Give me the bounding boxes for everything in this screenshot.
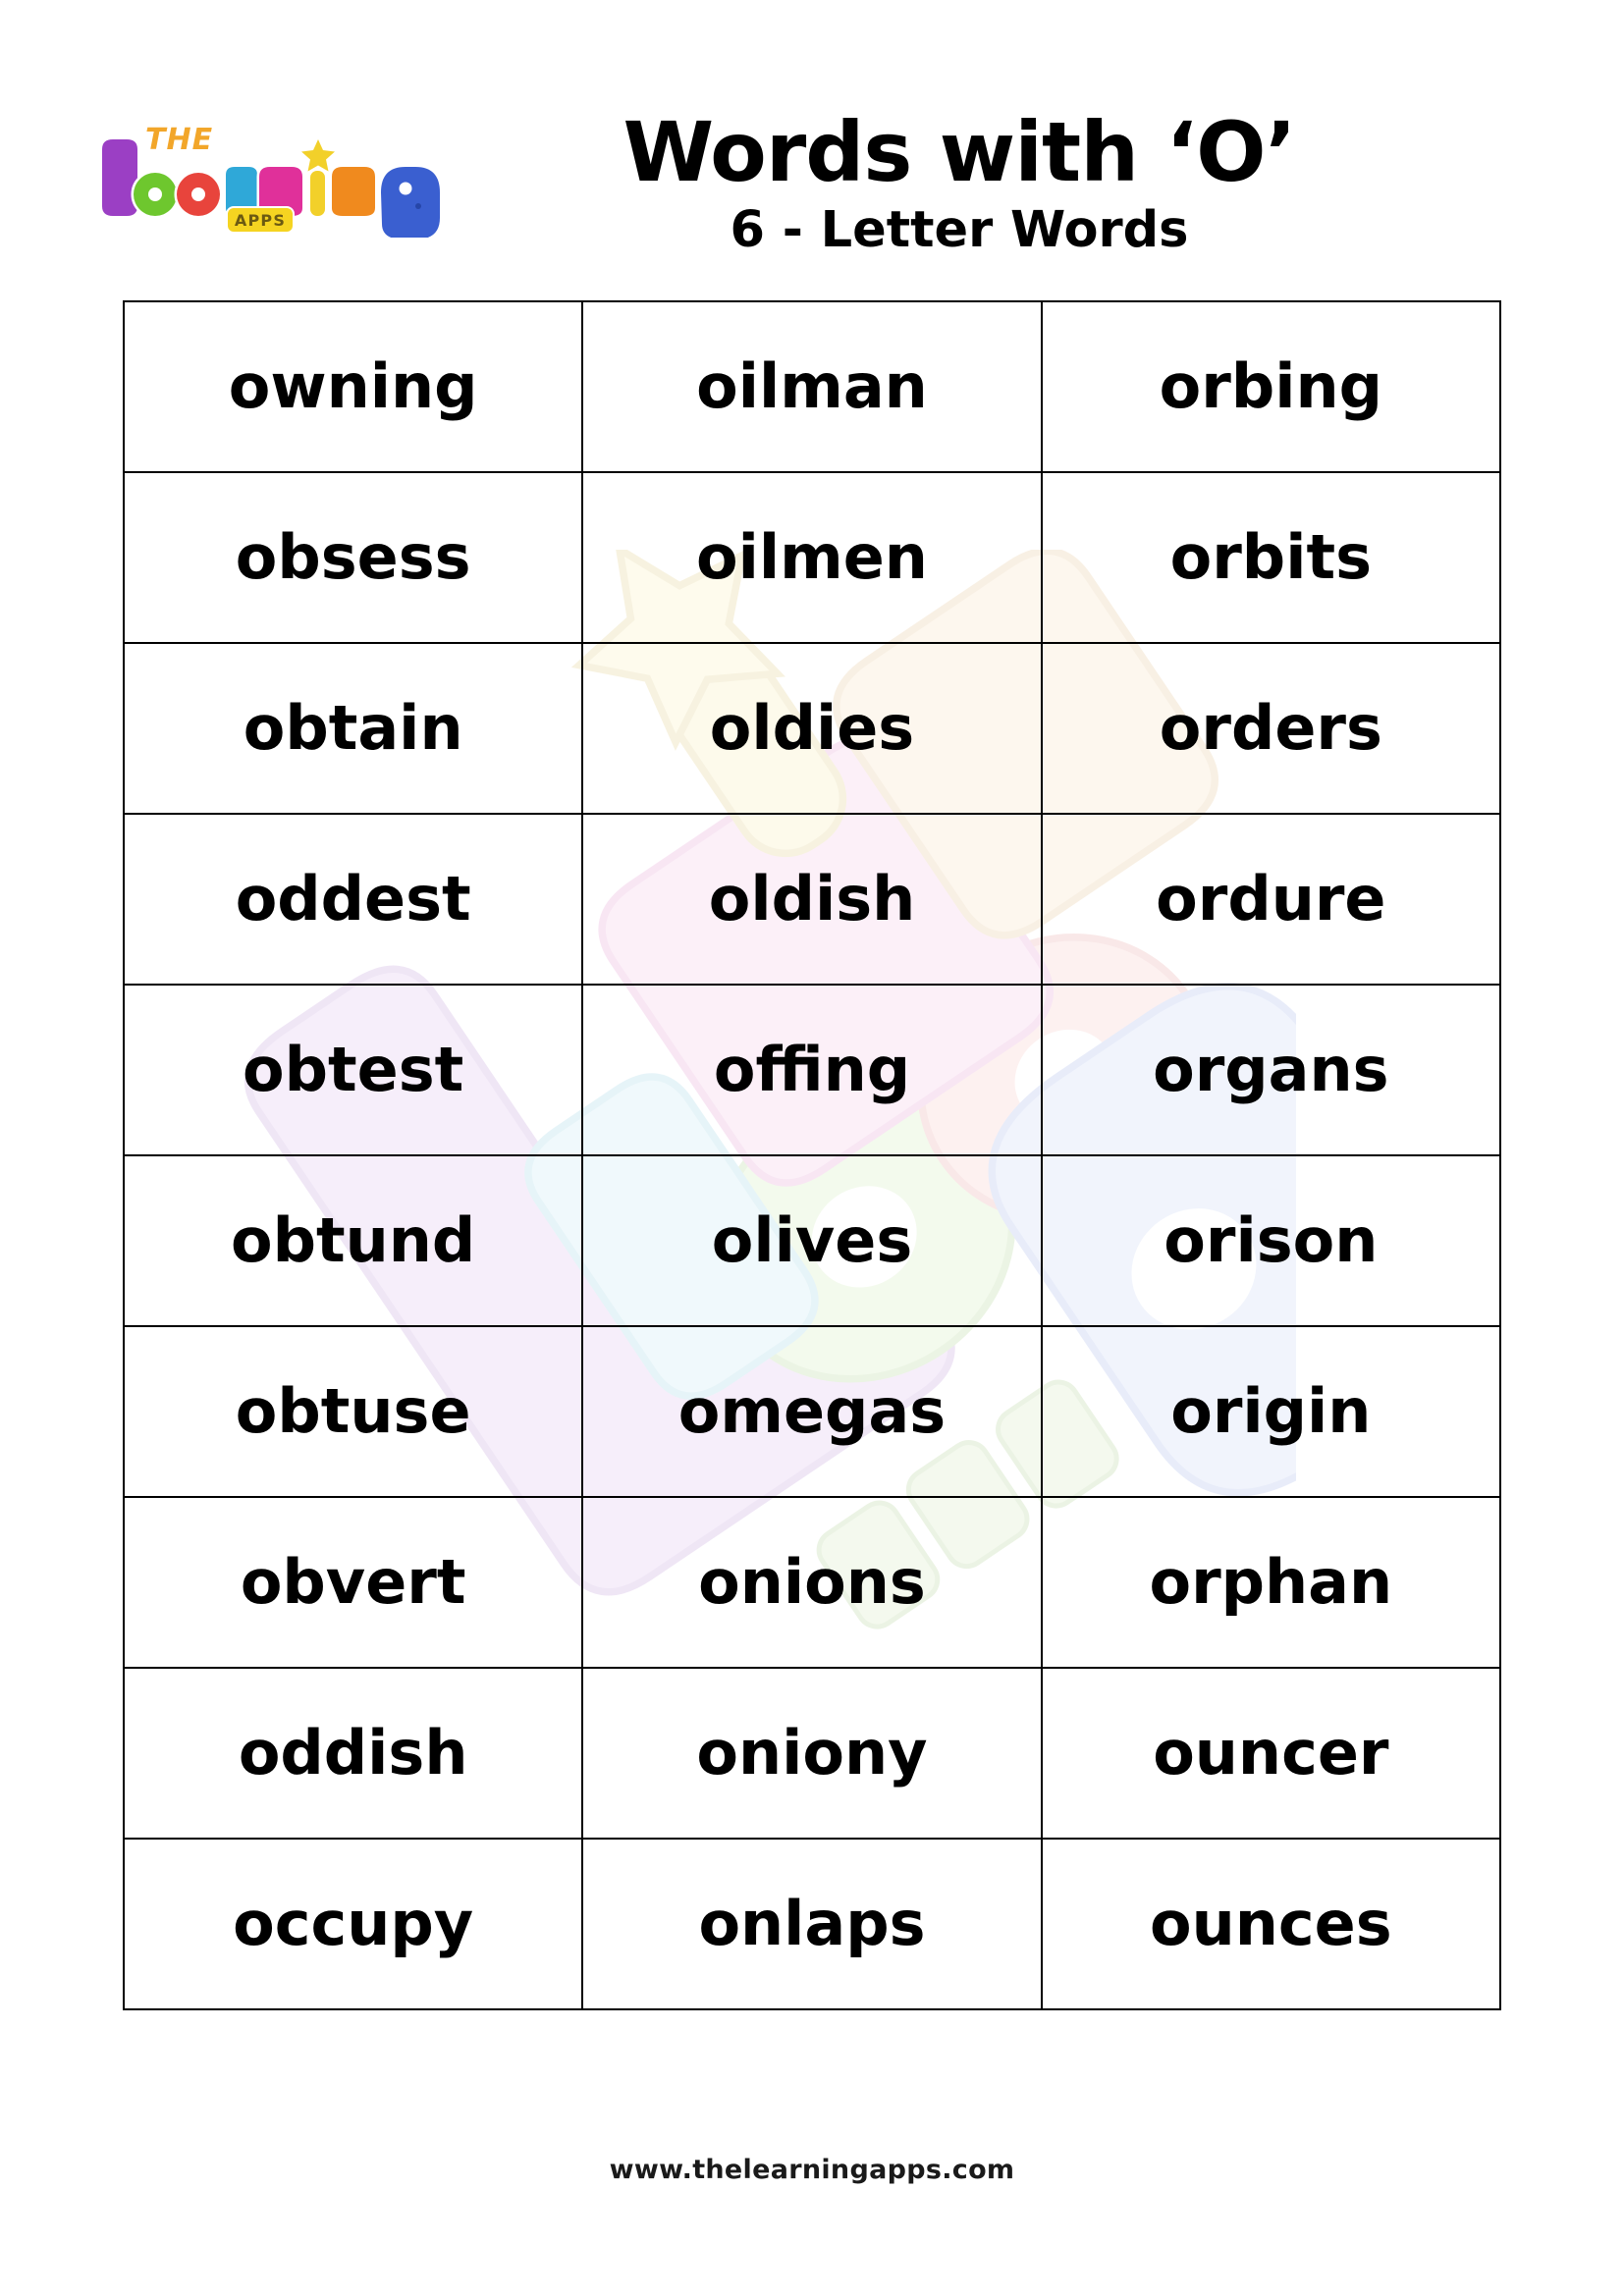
- word-cell: origin: [1042, 1326, 1500, 1497]
- word-cell: orison: [1042, 1155, 1500, 1326]
- table-row: oddish oniony ouncer: [124, 1668, 1500, 1839]
- word-cell: oddish: [124, 1668, 582, 1839]
- word-text: onions: [583, 1551, 1040, 1614]
- website-url[interactable]: www.thelearningapps.com: [610, 2155, 1015, 2185]
- word-cell: offing: [582, 985, 1041, 1155]
- table-row: obtund olives orison: [124, 1155, 1500, 1326]
- word-cell: omegas: [582, 1326, 1041, 1497]
- word-table: owning oilman orbing obsess oilmen orbit…: [123, 300, 1501, 2010]
- word-text: owning: [125, 355, 581, 418]
- word-text: omegas: [583, 1380, 1040, 1443]
- word-cell: ounces: [1042, 1839, 1500, 2009]
- word-text: oniony: [583, 1722, 1040, 1785]
- word-cell: orders: [1042, 643, 1500, 814]
- word-text: obtest: [125, 1039, 581, 1101]
- word-text: oldies: [583, 697, 1040, 760]
- svg-text:THE: THE: [145, 123, 213, 157]
- word-text: obvert: [125, 1551, 581, 1614]
- word-cell: obtain: [124, 643, 582, 814]
- word-text: ordure: [1043, 868, 1499, 931]
- word-text: obsess: [125, 526, 581, 589]
- table-row: obtain oldies orders: [124, 643, 1500, 814]
- table-row: obsess oilmen orbits: [124, 472, 1500, 643]
- word-text: onlaps: [583, 1893, 1040, 1955]
- word-cell: owning: [124, 301, 582, 472]
- word-text: orbing: [1043, 355, 1499, 418]
- word-cell: orphan: [1042, 1497, 1500, 1668]
- word-cell: obtund: [124, 1155, 582, 1326]
- worksheet-page: .bub { stroke:#ffffff; stroke-width:5; p…: [0, 0, 1624, 2296]
- page-footer: www.thelearningapps.com: [0, 2155, 1624, 2185]
- word-text: oddest: [125, 868, 581, 931]
- word-text: orison: [1043, 1209, 1499, 1272]
- word-cell: ordure: [1042, 814, 1500, 985]
- word-cell: oldies: [582, 643, 1041, 814]
- word-text: obtuse: [125, 1380, 581, 1443]
- word-cell: obtest: [124, 985, 582, 1155]
- word-cell: olives: [582, 1155, 1041, 1326]
- word-text: orphan: [1043, 1551, 1499, 1614]
- page-subtitle: 6 - Letter Words: [295, 194, 1624, 261]
- word-text: orders: [1043, 697, 1499, 760]
- word-cell: onions: [582, 1497, 1041, 1668]
- table-row: owning oilman orbing: [124, 301, 1500, 472]
- word-text: ounces: [1043, 1893, 1499, 1955]
- word-cell: oldish: [582, 814, 1041, 985]
- table-row: occupy onlaps ounces: [124, 1839, 1500, 2009]
- page-title: Words with ‘O’: [295, 110, 1624, 194]
- word-text: origin: [1043, 1380, 1499, 1443]
- word-text: olives: [583, 1209, 1040, 1272]
- word-text: ouncer: [1043, 1722, 1499, 1785]
- word-text: oddish: [125, 1722, 581, 1785]
- page-header: .bub { stroke:#ffffff; stroke-width:5; p…: [0, 0, 1624, 294]
- word-text: orbits: [1043, 526, 1499, 589]
- word-text: oilmen: [583, 526, 1040, 589]
- table-row: obtest offing organs: [124, 985, 1500, 1155]
- word-text: obtund: [125, 1209, 581, 1272]
- svg-text:APPS: APPS: [235, 211, 286, 230]
- word-cell: orbing: [1042, 301, 1500, 472]
- word-text: offing: [583, 1039, 1040, 1101]
- word-text: occupy: [125, 1893, 581, 1955]
- word-cell: ouncer: [1042, 1668, 1500, 1839]
- word-cell: oniony: [582, 1668, 1041, 1839]
- word-cell: onlaps: [582, 1839, 1041, 2009]
- word-cell: obtuse: [124, 1326, 582, 1497]
- table-row: obvert onions orphan: [124, 1497, 1500, 1668]
- brand-logo: .bub { stroke:#ffffff; stroke-width:5; p…: [94, 110, 443, 238]
- word-cell: organs: [1042, 985, 1500, 1155]
- word-text: obtain: [125, 697, 581, 760]
- table-row: obtuse omegas origin: [124, 1326, 1500, 1497]
- word-cell: orbits: [1042, 472, 1500, 643]
- word-table-body: owning oilman orbing obsess oilmen orbit…: [124, 301, 1500, 2009]
- word-cell: obvert: [124, 1497, 582, 1668]
- word-table-container: owning oilman orbing obsess oilmen orbit…: [123, 300, 1501, 2010]
- word-text: oilman: [583, 355, 1040, 418]
- word-cell: oddest: [124, 814, 582, 985]
- word-text: oldish: [583, 868, 1040, 931]
- word-cell: occupy: [124, 1839, 582, 2009]
- word-cell: oilman: [582, 301, 1041, 472]
- word-cell: oilmen: [582, 472, 1041, 643]
- table-row: oddest oldish ordure: [124, 814, 1500, 985]
- word-cell: obsess: [124, 472, 582, 643]
- word-text: organs: [1043, 1039, 1499, 1101]
